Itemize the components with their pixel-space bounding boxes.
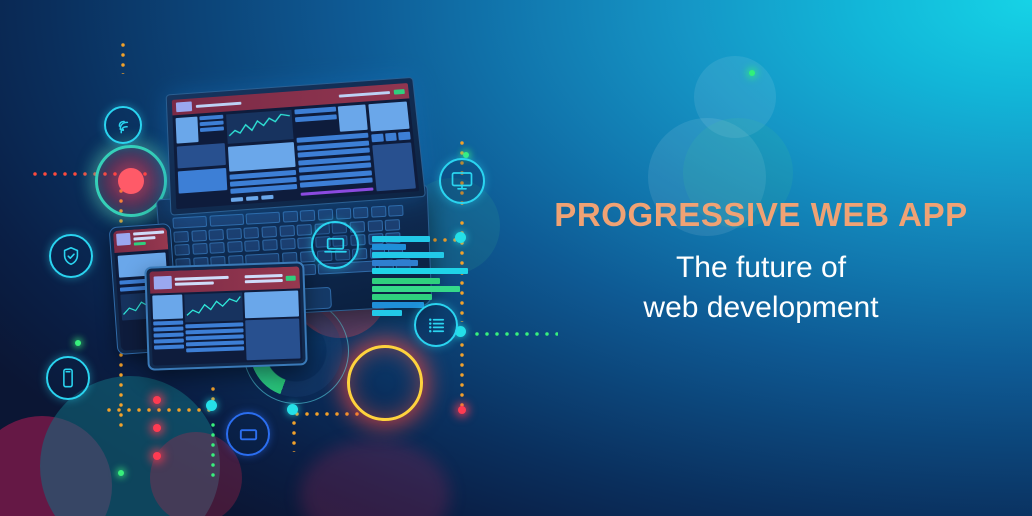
- tablet-tile: [152, 295, 183, 320]
- widget-tile: [338, 104, 368, 131]
- key: [192, 243, 208, 255]
- glow-dot-3: [118, 470, 124, 476]
- tablet-line: [153, 320, 183, 325]
- sparkle-dot: [749, 70, 755, 76]
- glow-dot-red-1: [458, 406, 466, 414]
- tablet-badge: [286, 275, 296, 280]
- widget-tile: [176, 117, 199, 144]
- widget-tile: [368, 101, 409, 131]
- widget-chip: [398, 132, 410, 141]
- smartphone-icon-badge[interactable]: [46, 356, 90, 400]
- key: [261, 226, 277, 238]
- dashboard-body: [172, 98, 419, 209]
- chart-bar: [372, 278, 440, 284]
- chart-bar: [372, 286, 460, 292]
- tablet-line: [245, 274, 283, 278]
- tablet-line: [185, 322, 243, 328]
- key: [173, 230, 189, 242]
- laptop-icon-badge[interactable]: [311, 221, 359, 269]
- progress-bar: [301, 187, 374, 195]
- connector-dots-bottom-green: [211, 420, 215, 480]
- line-chart-widget: [226, 110, 293, 144]
- key: [174, 244, 190, 256]
- tablet-line: [153, 326, 183, 331]
- header-line: [196, 101, 242, 107]
- key: [367, 220, 383, 232]
- tablet-line: [186, 346, 244, 352]
- key: [262, 239, 278, 251]
- widget-tile: [228, 142, 296, 172]
- widget-chip: [246, 196, 258, 201]
- key: [246, 212, 281, 225]
- pwa-banner: PROGRESSIVE WEB APP The future of web de…: [0, 0, 1032, 516]
- chart-bar: [372, 302, 424, 308]
- decor-circle-magenta: [0, 416, 112, 516]
- key: [172, 216, 207, 229]
- tablet-line: [154, 338, 184, 343]
- key: [227, 241, 243, 253]
- chart-bar: [372, 310, 402, 316]
- tablet-col-2: [184, 292, 244, 362]
- key: [318, 209, 334, 221]
- widget-line: [199, 115, 223, 121]
- decor-circle-7: [300, 440, 450, 516]
- key: [388, 205, 404, 217]
- widget-tile: [177, 143, 226, 168]
- connector-dots-right-v1: [292, 418, 296, 452]
- tablet-line: [154, 344, 184, 349]
- subtitle-line-2: web development: [526, 288, 996, 328]
- dashboard-col-3: [294, 104, 373, 196]
- laptop-icon: [323, 233, 348, 258]
- glow-dot-red-3: [153, 424, 161, 432]
- tablet-line: [186, 340, 244, 346]
- glow-dot-red-2: [153, 396, 161, 404]
- laptop-screen: [172, 83, 419, 209]
- connector-node-4: [287, 404, 298, 415]
- dashboard-col-1: [176, 115, 228, 206]
- text-block: PROGRESSIVE WEB APP The future of web de…: [526, 196, 996, 327]
- widget-chip: [261, 195, 273, 200]
- mobile-line: [133, 230, 164, 235]
- chart-bar: [372, 260, 418, 266]
- header-badge: [394, 89, 405, 95]
- key: [280, 238, 296, 250]
- glow-dot-2: [75, 340, 81, 346]
- page-subtitle: The future of web development: [526, 248, 996, 327]
- dashboard-col-4: [368, 101, 416, 191]
- shield-check-icon-badge[interactable]: [49, 234, 93, 278]
- glow-dot-red-4: [153, 452, 161, 460]
- key: [226, 228, 242, 240]
- tablet-line: [186, 334, 244, 340]
- key: [353, 207, 369, 219]
- laptop-lid: [166, 77, 426, 216]
- key: [335, 208, 351, 220]
- monitor-icon: [450, 169, 474, 193]
- connector-dots-center-v2: [460, 340, 464, 410]
- list-icon: [425, 314, 448, 337]
- dashboard-col-2: [226, 110, 298, 202]
- key: [244, 227, 260, 239]
- widget-chip: [371, 134, 383, 143]
- tablet-line-chart: [184, 292, 243, 322]
- key: [282, 211, 298, 223]
- chart-bar: [372, 244, 406, 250]
- chart-bar: [372, 236, 430, 242]
- key: [297, 224, 313, 236]
- tablet-line: [154, 332, 184, 337]
- pulse-ring-neon: [347, 345, 423, 421]
- shield-check-icon: [60, 245, 82, 267]
- key: [245, 240, 261, 252]
- key: [209, 214, 244, 227]
- tablet-line: [245, 279, 283, 283]
- mobile-badge: [134, 242, 147, 246]
- widget-tile: [178, 168, 228, 194]
- connector-dots-right-h1: [292, 412, 364, 416]
- key: [279, 225, 295, 237]
- tablet-line: [175, 281, 214, 285]
- tablet-col-3: [244, 290, 300, 360]
- list-icon-badge[interactable]: [414, 303, 458, 347]
- decor-circle-2: [694, 56, 776, 138]
- chart-bar: [372, 252, 444, 258]
- widget-tile: [372, 142, 416, 191]
- chart-bar: [372, 268, 468, 274]
- tablet-device: [144, 261, 308, 371]
- widget-chip: [231, 197, 243, 202]
- wifi-icon: [113, 115, 133, 135]
- chart-bar: [372, 294, 432, 300]
- header-logo: [176, 101, 192, 112]
- widget-line: [200, 121, 224, 127]
- page-title: PROGRESSIVE WEB APP: [526, 196, 996, 234]
- widget-line: [200, 126, 224, 132]
- key: [209, 242, 225, 254]
- monitor-icon-badge[interactable]: [439, 158, 485, 204]
- subtitle-line-1: The future of: [526, 248, 996, 288]
- mobile-logo: [116, 233, 131, 246]
- widget-line: [294, 107, 336, 115]
- window-icon: [237, 423, 260, 446]
- connector-dots-right-green: [472, 332, 558, 336]
- key: [191, 230, 207, 242]
- window-icon-badge[interactable]: [226, 412, 270, 456]
- wifi-icon-badge[interactable]: [104, 106, 142, 144]
- tablet-logo: [154, 275, 172, 289]
- connector-dots-bottom-h: [104, 408, 214, 412]
- key: [371, 206, 387, 218]
- tablet-line: [185, 328, 243, 334]
- tablet-col-1: [152, 295, 184, 364]
- tablet-body: [150, 288, 302, 365]
- connector-node-3: [206, 400, 217, 411]
- header-search: [339, 91, 390, 98]
- mobile-line: [133, 236, 155, 241]
- tablet-tile: [245, 318, 300, 360]
- key: [208, 229, 224, 241]
- key: [385, 219, 401, 231]
- tablet-screen: [149, 266, 302, 365]
- smartphone-icon: [57, 367, 79, 389]
- key: [300, 210, 316, 222]
- widget-line: [295, 114, 337, 122]
- connector-dots-wifi-v: [121, 40, 125, 74]
- tablet-tile: [244, 290, 299, 318]
- widget-chip: [385, 133, 397, 142]
- tablet-line: [175, 276, 229, 281]
